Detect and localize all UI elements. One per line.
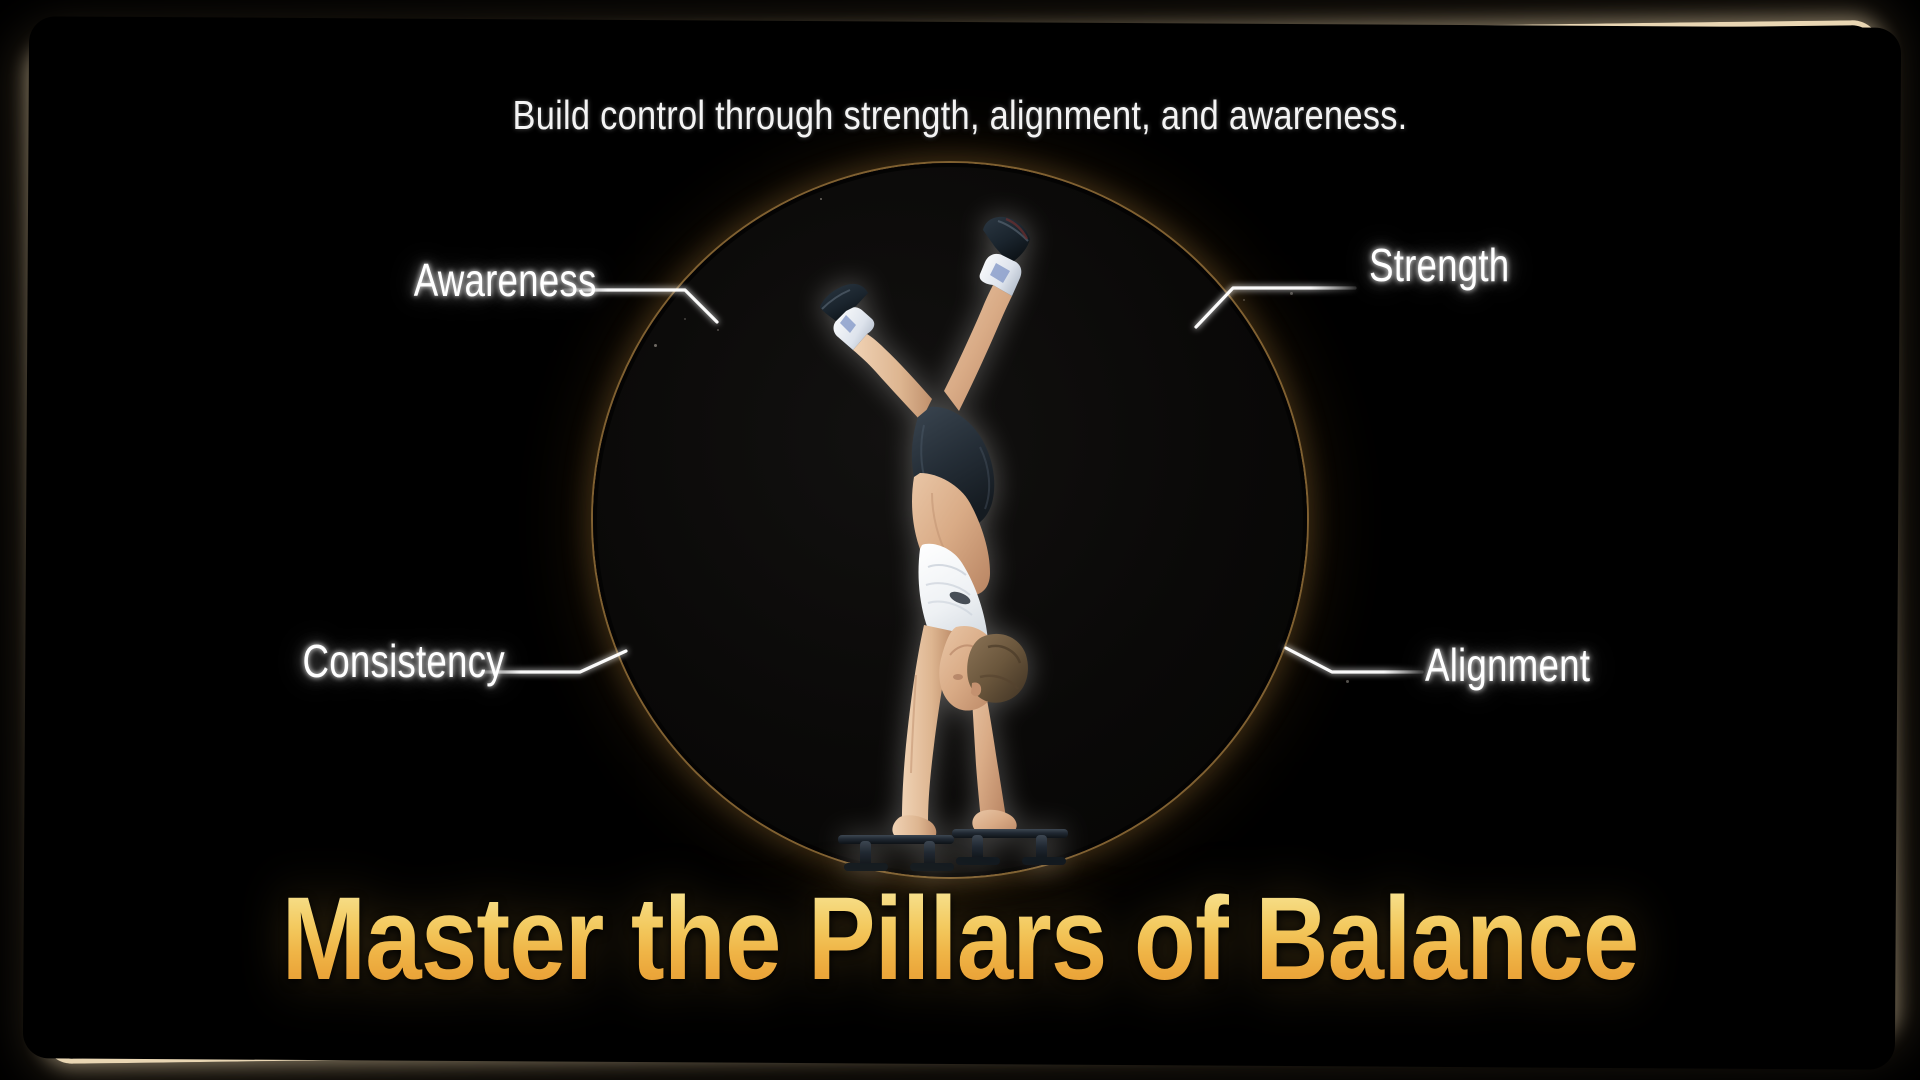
gymnast-handstand-figure [820, 185, 1080, 875]
connector-alignment [1286, 648, 1422, 672]
parallette-bars [838, 829, 1068, 871]
dust-speck [1290, 292, 1293, 295]
slide-headline: Master the Pillars of Balance [134, 880, 1785, 998]
dust-speck [654, 344, 657, 347]
pillar-label-strength: Strength [1369, 242, 1509, 288]
slide-subtitle: Build control through strength, alignmen… [154, 92, 1767, 139]
pillar-label-awareness: Awareness [414, 257, 597, 303]
dust-speck [717, 329, 719, 331]
dust-speck [684, 318, 686, 320]
pillar-label-consistency: Consistency [303, 638, 505, 684]
dust-speck [1243, 299, 1245, 301]
pillar-label-alignment: Alignment [1425, 642, 1590, 688]
slide-canvas: Awareness Strength Consistency Alignment… [0, 0, 1920, 1080]
dust-speck [1346, 680, 1349, 683]
